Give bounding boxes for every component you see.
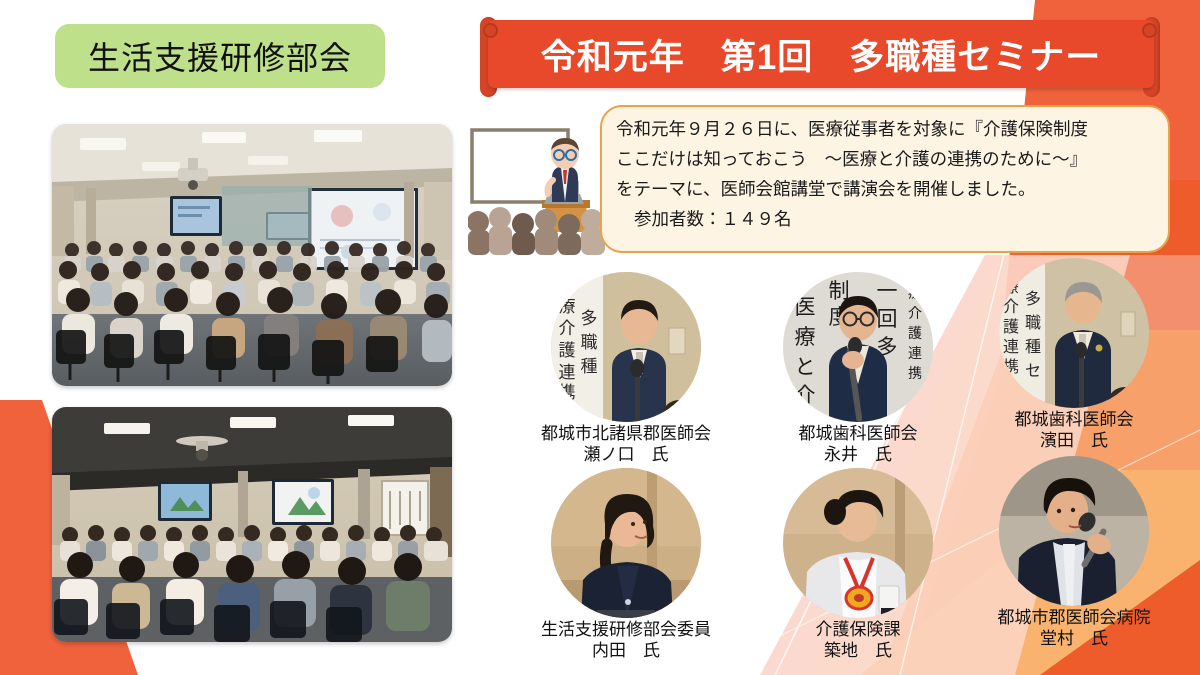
svg-text:介: 介 [908,306,922,322]
speaker-card-1: 医療と介 制度 一回多 療介護 連携 [768,272,948,465]
svg-text:介: 介 [795,383,816,407]
svg-text:セ: セ [1025,361,1041,380]
svg-text:携: 携 [1003,357,1019,376]
svg-text:連: 連 [1003,337,1019,356]
audience-icon [468,211,490,255]
svg-text:連: 連 [559,363,576,383]
speaker-portrait-3 [551,468,701,618]
speaker-portrait-1: 医療と介 制度 一回多 療介護 連携 [783,272,933,422]
svg-text:連: 連 [908,346,922,362]
speaker-affiliation-2: 都城歯科医師会 [1015,410,1134,429]
svg-text:療: 療 [908,285,922,302]
speaker-portrait-2: 療介護 連携 多職種セ [999,258,1149,408]
speaker-affiliation-1: 都城歯科医師会 [799,424,918,443]
svg-text:介: 介 [559,319,576,339]
speaker-caption-3: 生活支援研修部会委員 内田 氏 [536,620,716,661]
speaker-name-0: 瀬ノ口 氏 [536,445,716,466]
svg-text:と: と [795,355,816,379]
department-badge-label: 生活支援研修部会 [88,33,352,79]
svg-text:療: 療 [1003,277,1019,296]
speaker-affiliation-0: 都城市北諸県郡医師会 [541,424,711,443]
speaker-name-1: 永井 氏 [768,445,948,466]
speaker-affiliation-4: 介護保険課 [816,620,901,639]
speaker-affiliation-5: 都城市郡医師会病院 [998,608,1151,627]
speaker-caption-1: 都城歯科医師会 永井 氏 [768,424,948,465]
speaker-card-0: 療介護 連携 多職種 都城市北諸県郡医師会 [536,272,716,465]
speaker-caption-0: 都城市北諸県郡医師会 瀬ノ口 氏 [536,424,716,465]
banner-title: 令和元年 第1回 多職種セミナー [541,29,1101,80]
svg-text:種: 種 [581,357,598,377]
seminar-banner: 令和元年 第1回 多職種セミナー [470,20,1170,92]
svg-text:多: 多 [581,309,598,329]
callout-line-3: をテーマに、医師会館講堂で講演会を開催しました。 [616,177,1154,202]
speaker-card-2: 療介護 連携 多職種セ 都 [984,258,1164,451]
slide-canvas: 生活支援研修部会 令和元年 第1回 多職種セミナー [0,0,1200,675]
svg-text:護: 護 [908,326,922,342]
speaker-card-4: 介護保険課 築地 氏 [768,468,948,661]
svg-text:療: 療 [795,325,816,349]
svg-text:医: 医 [795,295,816,319]
svg-text:多: 多 [1025,289,1041,308]
speaker-card-3: 生活支援研修部会委員 内田 氏 [536,468,716,661]
svg-text:療: 療 [559,297,576,317]
svg-text:職: 職 [581,333,598,353]
speaker-portrait-5 [999,456,1149,606]
description-callout: 令和元年９月２６日に、医療従事者を対象に『介護保険制度 ここだけは知っておこう … [600,105,1170,253]
callout-line-2: ここだけは知っておこう ～医療と介護の連携のために～』 [616,147,1154,172]
banner-body: 令和元年 第1回 多職種セミナー [488,20,1154,88]
speaker-affiliation-3: 生活支援研修部会委員 [541,620,711,639]
svg-text:一: 一 [877,279,898,303]
speaker-caption-4: 介護保険課 築地 氏 [768,620,948,661]
svg-text:携: 携 [559,383,576,403]
svg-text:携: 携 [908,366,922,382]
svg-text:護: 護 [1003,317,1019,336]
callout-line-1: 令和元年９月２６日に、医療従事者を対象に『介護保険制度 [616,117,1154,142]
banner-roll-dot-left [483,23,498,38]
lecture-hall-photo-1 [52,124,452,386]
svg-text:職: 職 [1025,313,1041,332]
svg-text:種: 種 [1025,337,1041,356]
svg-text:護: 護 [559,341,576,361]
speaker-name-2: 濱田 氏 [984,431,1164,452]
svg-text:介: 介 [1003,297,1019,316]
lecture-hall-photo-2 [52,407,452,642]
speaker-name-3: 内田 氏 [536,641,716,662]
lecture-podium-illustration [468,110,608,255]
speaker-name-5: 堂村 氏 [984,629,1164,650]
department-badge: 生活支援研修部会 [55,24,385,88]
speaker-portrait-0: 療介護 連携 多職種 [551,272,701,422]
speaker-caption-2: 都城歯科医師会 濱田 氏 [984,410,1164,451]
banner-roll-dot-right [1142,23,1157,38]
speaker-name-4: 築地 氏 [768,641,948,662]
speaker-portrait-4 [783,468,933,618]
svg-text:回: 回 [877,307,898,331]
speaker-caption-5: 都城市郡医師会病院 堂村 氏 [984,608,1164,649]
speaker-card-5: 都城市郡医師会病院 堂村 氏 [984,456,1164,649]
callout-participants: 参加者数：１４９名 [616,207,1154,232]
